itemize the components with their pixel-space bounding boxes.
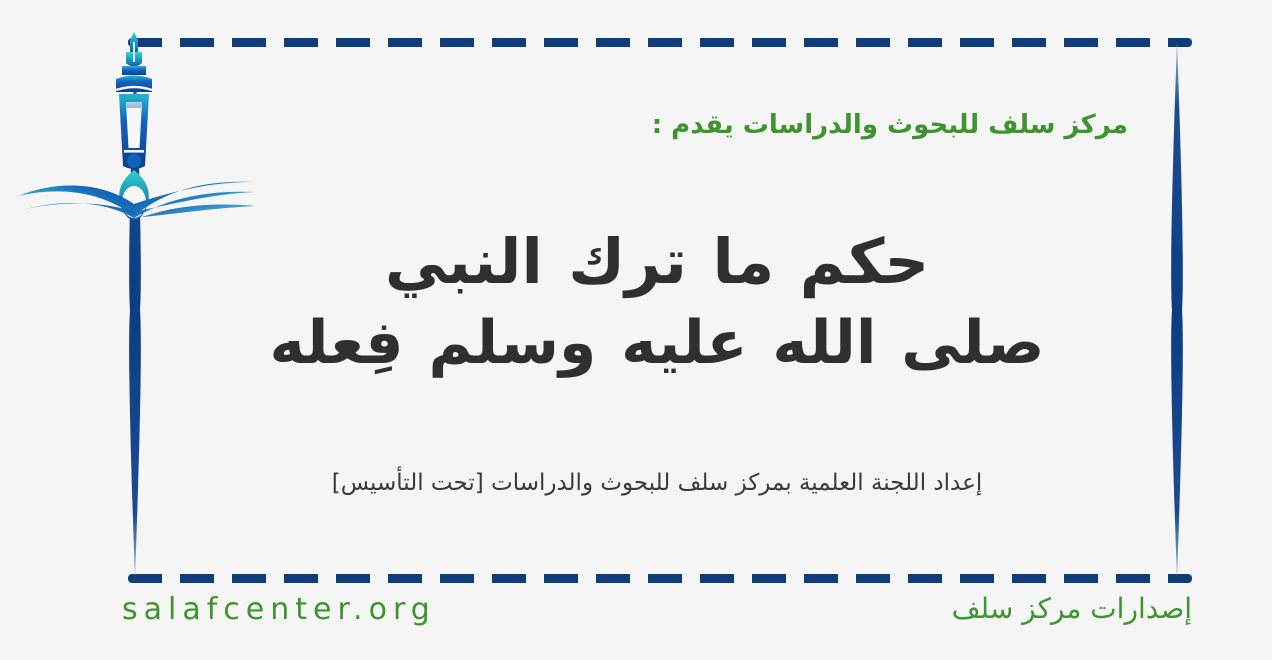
title-line-2: صلى الله عليه وسلم فِعله bbox=[150, 303, 1164, 383]
presenter-label: مركز سلف للبحوث والدراسات يقدم : bbox=[652, 110, 1128, 140]
pen-nib-icon bbox=[126, 32, 142, 67]
title-line-1: حكم ما ترك النبي bbox=[150, 220, 1164, 303]
bottom-dashed-border bbox=[128, 574, 1192, 583]
byline-text: إعداد اللجنة العلمية بمركز سلف للبحوث وا… bbox=[150, 470, 1164, 496]
poster-canvas: مركز سلف للبحوث والدراسات يقدم : حكم ما … bbox=[0, 0, 1272, 660]
website-link[interactable]: salafcenter.org bbox=[122, 592, 436, 627]
book-page-left bbox=[18, 186, 134, 216]
series-label: إصدارات مركز سلف bbox=[952, 592, 1192, 625]
right-tapered-border bbox=[1164, 42, 1190, 578]
page-title: حكم ما ترك النبي صلى الله عليه وسلم فِعل… bbox=[150, 220, 1164, 383]
content-area: مركز سلف للبحوث والدراسات يقدم : حكم ما … bbox=[150, 42, 1164, 574]
